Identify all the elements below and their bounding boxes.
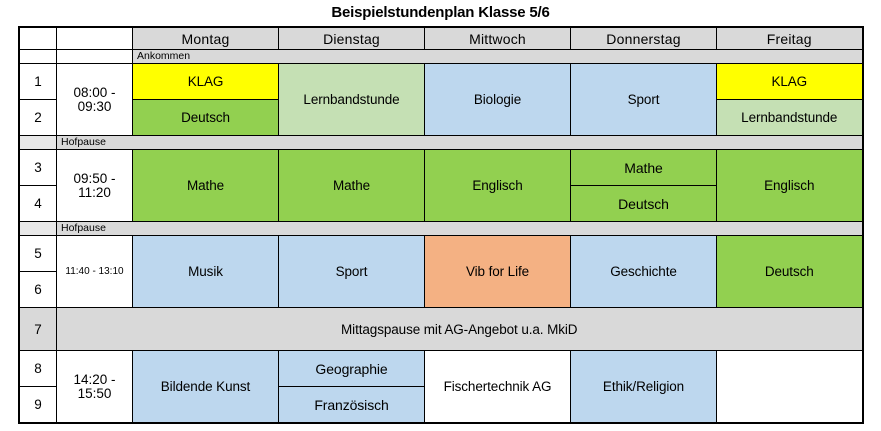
header-time-col bbox=[57, 27, 133, 50]
lesson-row-1: 1 08:00 - 09:30 KLAG Lernbandstunde Biol… bbox=[19, 64, 863, 100]
cell-donnerstag-1-2[interactable]: Sport bbox=[571, 64, 717, 136]
time-block-4: 14:20 - 15:50 bbox=[57, 351, 133, 424]
time-line-1: 14:20 - bbox=[73, 372, 115, 387]
cell-mittwoch-8-9[interactable]: Fischertechnik AG bbox=[425, 351, 571, 424]
timetable: Montag Dienstag Mittwoch Donnerstag Frei… bbox=[18, 26, 864, 424]
cell-freitag-5-6[interactable]: Deutsch bbox=[717, 236, 863, 308]
cell-mittwoch-5-6[interactable]: Vib for Life bbox=[425, 236, 571, 308]
lesson-row-7-lunch: 7 Mittagspause mit AG-Angebot u.a. MkiD bbox=[19, 308, 863, 351]
cell-donnerstag-3-4-split: Mathe Deutsch bbox=[571, 150, 717, 222]
cell-dienstag-1-2[interactable]: Lernbandstunde bbox=[279, 64, 425, 136]
cell-donnerstag-3[interactable]: Mathe bbox=[571, 150, 716, 186]
cell-mittwoch-1-2[interactable]: Biologie bbox=[425, 64, 571, 136]
header-day-donnerstag: Donnerstag bbox=[571, 27, 717, 50]
row-number-1: 1 bbox=[19, 64, 57, 100]
lunch-label: Mittagspause mit AG-Angebot u.a. MkiD bbox=[57, 308, 863, 351]
page-title: Beispielstundenplan Klasse 5/6 bbox=[0, 0, 881, 26]
time-line-2: 11:20 bbox=[78, 185, 111, 200]
lesson-row-5: 5 11:40 - 13:10 Musik Sport Vib for Life… bbox=[19, 236, 863, 272]
break-stub-time bbox=[57, 50, 133, 64]
cell-montag-2[interactable]: Deutsch bbox=[133, 100, 279, 136]
break-label-hofpause-1: Hofpause bbox=[57, 136, 863, 150]
timetable-page: Beispielstundenplan Klasse 5/6 Montag Di… bbox=[0, 0, 881, 431]
break-row-hofpause-1: Hofpause bbox=[19, 136, 863, 150]
lesson-row-3: 3 09:50 - 11:20 Mathe Mathe Englisch Mat… bbox=[19, 150, 863, 186]
row-number-4: 4 bbox=[19, 186, 57, 222]
break-label-ankommen: Ankommen bbox=[133, 50, 863, 64]
row-number-5: 5 bbox=[19, 236, 57, 272]
row-number-8: 8 bbox=[19, 351, 57, 387]
break-stub-num-3 bbox=[19, 222, 57, 236]
cell-freitag-8-9[interactable] bbox=[717, 351, 863, 424]
row-number-2: 2 bbox=[19, 100, 57, 136]
time-line-2: 09:30 bbox=[78, 99, 112, 114]
cell-dienstag-8[interactable]: Geographie bbox=[279, 351, 424, 387]
row-number-9: 9 bbox=[19, 387, 57, 424]
header-num-col bbox=[19, 27, 57, 50]
cell-dienstag-8-9-split: Geographie Französisch bbox=[279, 351, 425, 424]
break-stub-num bbox=[19, 50, 57, 64]
row-number-7: 7 bbox=[19, 308, 57, 351]
break-label-hofpause-2: Hofpause bbox=[57, 222, 863, 236]
cell-donnerstag-4[interactable]: Deutsch bbox=[571, 186, 716, 221]
split-wrap: Mathe Deutsch bbox=[571, 150, 716, 221]
cell-mittwoch-3-4[interactable]: Englisch bbox=[425, 150, 571, 222]
cell-freitag-3-4[interactable]: Englisch bbox=[717, 150, 863, 222]
cell-dienstag-3-4[interactable]: Mathe bbox=[279, 150, 425, 222]
header-row: Montag Dienstag Mittwoch Donnerstag Frei… bbox=[19, 27, 863, 50]
cell-montag-8-9[interactable]: Bildende Kunst bbox=[133, 351, 279, 424]
time-block-1: 08:00 - 09:30 bbox=[57, 64, 133, 136]
header-day-dienstag: Dienstag bbox=[279, 27, 425, 50]
cell-freitag-1[interactable]: KLAG bbox=[717, 64, 863, 100]
cell-montag-1[interactable]: KLAG bbox=[133, 64, 279, 100]
cell-dienstag-5-6[interactable]: Sport bbox=[279, 236, 425, 308]
row-number-3: 3 bbox=[19, 150, 57, 186]
lesson-row-8: 8 14:20 - 15:50 Bildende Kunst Geographi… bbox=[19, 351, 863, 387]
cell-montag-3-4[interactable]: Mathe bbox=[133, 150, 279, 222]
header-day-montag: Montag bbox=[133, 27, 279, 50]
cell-freitag-2[interactable]: Lernbandstunde bbox=[717, 100, 863, 136]
break-row-hofpause-2: Hofpause bbox=[19, 222, 863, 236]
time-line-1: 09:50 - bbox=[73, 171, 115, 186]
row-number-6: 6 bbox=[19, 272, 57, 308]
time-line-1: 08:00 - bbox=[73, 85, 115, 100]
cell-donnerstag-5-6[interactable]: Geschichte bbox=[571, 236, 717, 308]
header-day-mittwoch: Mittwoch bbox=[425, 27, 571, 50]
cell-dienstag-9[interactable]: Französisch bbox=[279, 387, 424, 422]
break-row-ankommen: Ankommen bbox=[19, 50, 863, 64]
time-block-2: 09:50 - 11:20 bbox=[57, 150, 133, 222]
cell-montag-5-6[interactable]: Musik bbox=[133, 236, 279, 308]
cell-donnerstag-8-9[interactable]: Ethik/Religion bbox=[571, 351, 717, 424]
split-wrap: Geographie Französisch bbox=[279, 351, 424, 422]
time-line-2: 15:50 bbox=[78, 386, 112, 401]
header-day-freitag: Freitag bbox=[717, 27, 863, 50]
break-stub-num-2 bbox=[19, 136, 57, 150]
time-block-3: 11:40 - 13:10 bbox=[57, 236, 133, 308]
